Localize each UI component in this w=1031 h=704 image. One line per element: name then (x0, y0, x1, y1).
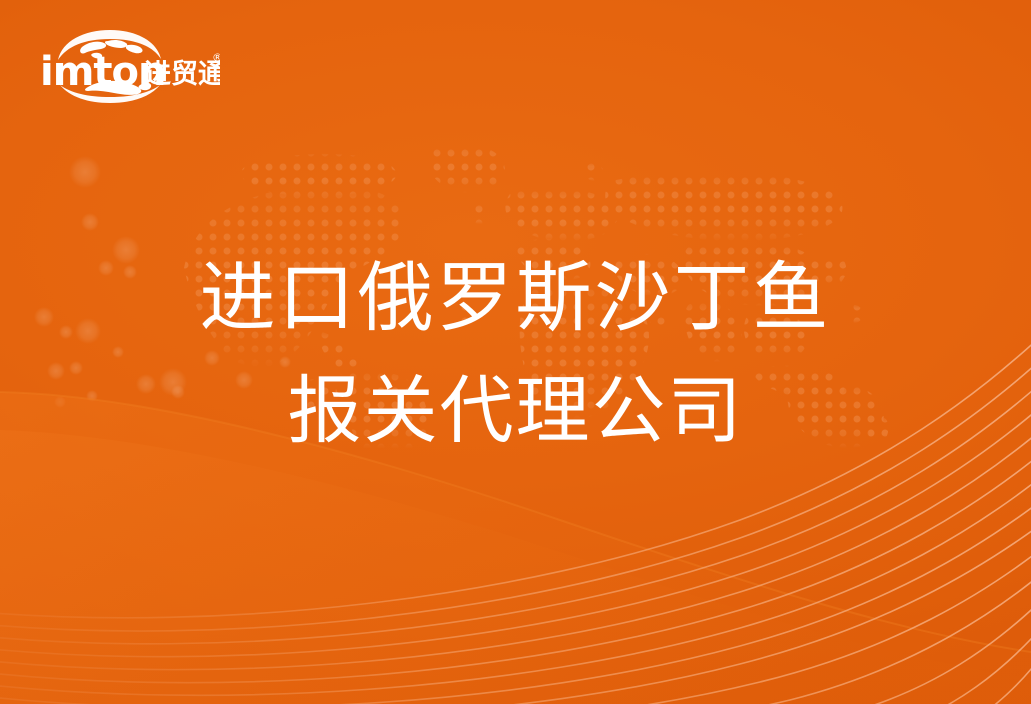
page-title: 进口俄罗斯沙丁鱼 报关代理公司 (0, 248, 1031, 460)
registered-trademark-symbol: ® (212, 51, 220, 64)
headline-line-2: 报关代理公司 (0, 362, 1031, 460)
promotional-banner: imton 进贸通 ® 进口俄罗斯沙丁鱼 报关代理公司 (0, 0, 1031, 704)
brand-logo[interactable]: imton 进贸通 ® (40, 27, 220, 103)
logo-chinese-name: 进贸通 (144, 59, 220, 90)
headline-line-1: 进口俄罗斯沙丁鱼 (0, 248, 1031, 348)
